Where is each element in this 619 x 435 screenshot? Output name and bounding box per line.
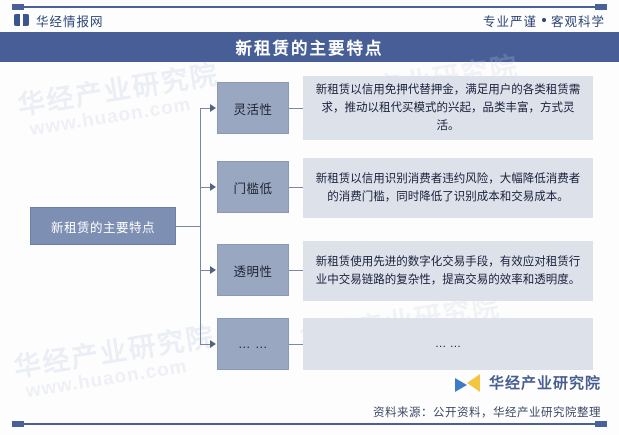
- slogan-separator-dot: [542, 18, 546, 22]
- root-node-label: 新租赁的主要特点: [51, 217, 155, 236]
- source-note: 资料来源：公开资料，华经产业研究院整理: [373, 404, 601, 420]
- connector-branch-2: [200, 187, 210, 188]
- infographic-page: 华经情报网 专业严谨 客观科学 新租赁的主要特点 华经产业研究院 www.hua…: [0, 0, 619, 435]
- brand-name: 华经情报网: [36, 11, 104, 30]
- bottom-divider: [14, 423, 605, 425]
- slogan-right: 客观科学: [551, 11, 605, 30]
- branch-node-2-label: 门槛低: [233, 178, 272, 197]
- branch-node-4-label: … …: [238, 337, 268, 351]
- arrow-branch-3: [210, 266, 216, 274]
- branch-desc-1: 新租赁以信用免押代替押金，满足用户的各类租赁需求，推动以租代买模式的兴起，品类丰…: [303, 76, 593, 140]
- branch-desc-2: 新租赁以信用识别消费者违约风险，大幅降低消费者的消费门槛，同时降低了识别成本和交…: [303, 158, 593, 218]
- brand: 华经情报网: [14, 11, 104, 30]
- connector-branch-1: [200, 108, 210, 109]
- branch-node-1-label: 灵活性: [233, 99, 272, 118]
- branch-node-3: 透明性: [217, 244, 289, 296]
- branch-desc-3-text: 新租赁使用先进的数字化交易手段，有效应对租赁行业中交易链路的复杂性，提高交易的效…: [315, 253, 581, 289]
- branch-desc-4-text: … …: [435, 335, 461, 353]
- connector-root-stem: [176, 226, 200, 227]
- branch-desc-1-text: 新租赁以信用免押代替押金，满足用户的各类租赁需求，推动以租代买模式的兴起，品类丰…: [315, 81, 581, 135]
- open-book-icon: [14, 14, 29, 26]
- connector-desc-3: [289, 270, 303, 271]
- branch-node-3-label: 透明性: [233, 261, 272, 280]
- huaon-logo-icon: [455, 374, 483, 392]
- connector-spine: [200, 108, 201, 344]
- slogan-left: 专业严谨: [483, 11, 537, 30]
- arrow-branch-4: [210, 340, 216, 348]
- root-node: 新租赁的主要特点: [30, 207, 176, 245]
- page-title: 新租赁的主要特点: [236, 35, 384, 59]
- arrow-branch-1: [210, 104, 216, 112]
- connector-desc-4: [289, 344, 303, 345]
- page-header: 华经情报网 专业严谨 客观科学: [0, 9, 619, 31]
- branch-desc-3: 新租赁使用先进的数字化交易手段，有效应对租赁行业中交易链路的复杂性，提高交易的效…: [303, 241, 593, 301]
- branch-node-1: 灵活性: [217, 82, 289, 134]
- arrow-branch-2: [210, 183, 216, 191]
- connector-desc-1: [289, 108, 303, 109]
- slogan: 专业严谨 客观科学: [483, 11, 605, 30]
- branch-node-2: 门槛低: [217, 161, 289, 213]
- connector-branch-3: [200, 270, 210, 271]
- footer-logo-text: 华经产业研究院: [489, 372, 601, 393]
- top-divider: [14, 6, 605, 8]
- branch-desc-4: … …: [303, 318, 593, 370]
- connector-desc-2: [289, 187, 303, 188]
- connector-branch-4: [200, 344, 210, 345]
- title-band: 新租赁的主要特点: [0, 32, 619, 62]
- branch-node-4: … …: [217, 318, 289, 370]
- bottom-divider-cap-right: [595, 421, 607, 427]
- footer-logo: 华经产业研究院: [455, 372, 601, 393]
- bottom-divider-cap-left: [12, 421, 24, 427]
- branch-desc-2-text: 新租赁以信用识别消费者违约风险，大幅降低消费者的消费门槛，同时降低了识别成本和交…: [315, 170, 581, 206]
- diagram-canvas: 新租赁的主要特点 灵活性 新租赁以信用免押代替押金，满足用户的各类租赁需求，推动…: [0, 62, 619, 397]
